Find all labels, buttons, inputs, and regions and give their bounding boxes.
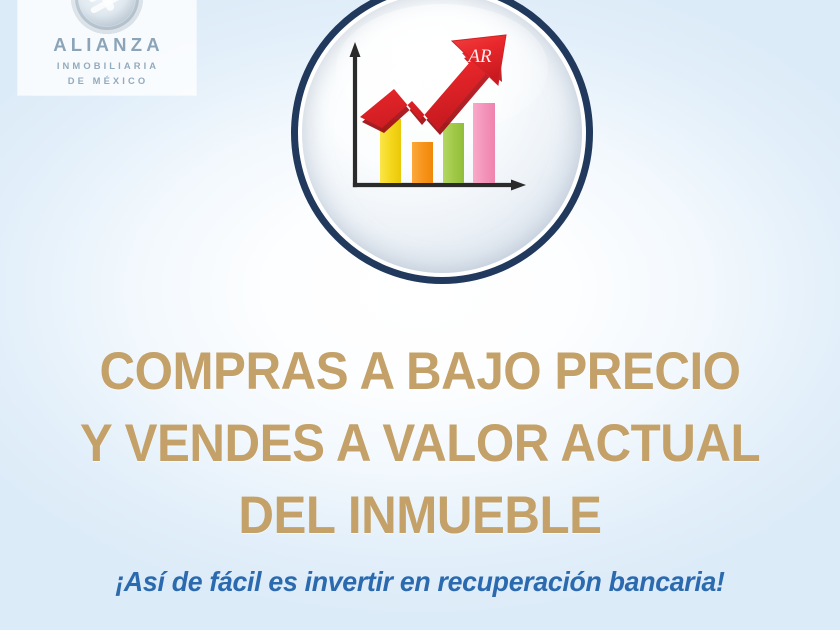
- chart-y-axis-arrowhead: [350, 42, 361, 57]
- company-logo: ALIANZA INMOBILIARIA DE MÉXICO: [18, 0, 196, 95]
- logo-tagline-line2: DE MÉXICO: [20, 76, 196, 85]
- subtitle-text: ¡Así de fácil es invertir en recuperació…: [13, 566, 828, 598]
- headline-line-3: DEL INMUEBLE: [29, 480, 810, 552]
- chart-bar-3: [443, 123, 464, 183]
- logo-company-name: ALIANZA: [21, 36, 196, 55]
- headline-line-1: COMPRAS A BAJO PRECIO: [29, 336, 810, 408]
- badge-inner-disc: AR: [302, 0, 582, 273]
- promotional-poster: ALIANZA INMOBILIARIA DE MÉXICO: [0, 0, 840, 630]
- chart-bar-4: [473, 103, 495, 183]
- logo-wordmark: ALIANZA INMOBILIARIA DE MÉXICO: [18, 36, 196, 85]
- growth-bar-chart-icon: AR: [302, 0, 582, 273]
- arrow-monogram: AR: [466, 46, 492, 67]
- headline-block: COMPRAS A BAJO PRECIO Y VENDES A VALOR A…: [0, 336, 840, 552]
- headline-line-2: Y VENDES A VALOR ACTUAL: [29, 408, 810, 480]
- logo-tagline-line1: INMOBILIARIA: [20, 61, 196, 70]
- chart-bar-2: [412, 142, 433, 183]
- growth-chart-badge: AR: [291, 0, 593, 284]
- chart-x-axis-arrowhead: [511, 180, 526, 191]
- globe-emblem-icon: [71, 0, 143, 34]
